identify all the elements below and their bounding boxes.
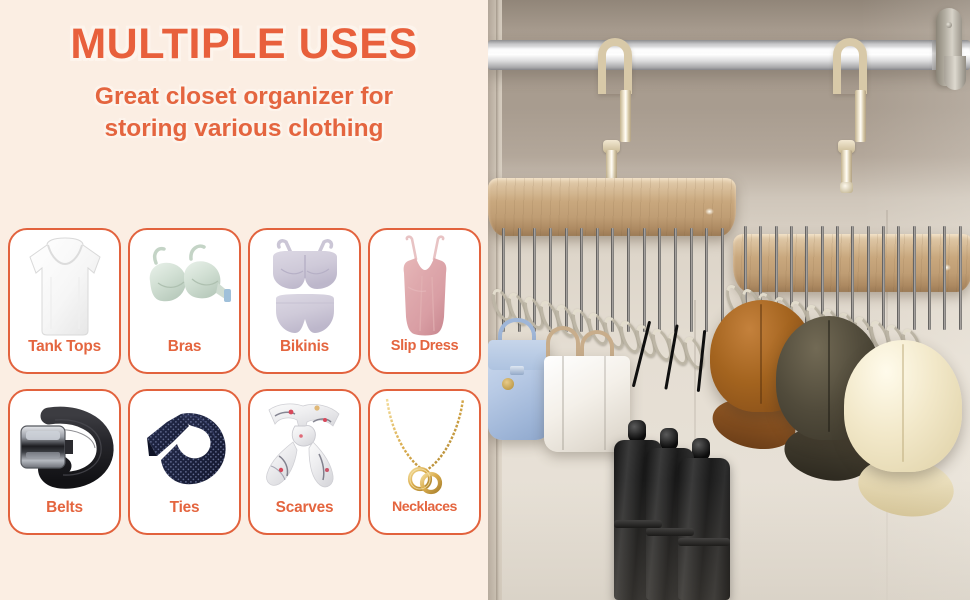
bra-icon xyxy=(130,230,239,340)
product-photo xyxy=(488,0,970,600)
vertical-rod xyxy=(867,226,870,330)
closet-rod xyxy=(488,40,970,70)
brown-cap-seam xyxy=(760,304,762,404)
vertical-rod xyxy=(643,228,646,332)
left-info-panel: MULTIPLE USES Great closet organizer for… xyxy=(0,0,488,600)
tie-icon xyxy=(130,391,239,501)
floor-shadow xyxy=(488,480,970,600)
category-label: Bikinis xyxy=(250,339,359,354)
page-subtitle-line-2: storing various clothing xyxy=(0,113,488,144)
category-label: Tank Tops xyxy=(10,339,119,354)
vertical-rod xyxy=(658,228,661,332)
tank-top-icon xyxy=(10,230,119,340)
hanger-2-stem-lower xyxy=(841,150,852,186)
category-card-scarves[interactable]: Scarves xyxy=(248,389,361,535)
category-card-bras[interactable]: Bras xyxy=(128,228,241,374)
headline-block: MULTIPLE USES Great closet organizer for… xyxy=(0,22,488,144)
category-card-bikinis[interactable]: Bikinis xyxy=(248,228,361,374)
wood-highlight xyxy=(705,208,714,215)
white-handbag-seam-2 xyxy=(604,356,606,450)
hanger-1-stem-upper xyxy=(620,90,631,142)
vertical-rod xyxy=(882,226,885,330)
category-label: Necklaces xyxy=(370,500,479,514)
bracket-screw xyxy=(946,22,952,28)
white-handbag xyxy=(544,356,630,452)
page-subtitle: Great closet organizer for storing vario… xyxy=(0,81,488,144)
product-infographic: MULTIPLE USES Great closet organizer for… xyxy=(0,0,970,600)
belt-icon xyxy=(10,391,119,501)
category-label: Belts xyxy=(10,500,119,515)
vertical-rod xyxy=(690,228,693,332)
vertical-rod xyxy=(943,226,946,330)
vertical-rod xyxy=(705,228,708,332)
umbrella-handle-1 xyxy=(628,420,646,442)
umbrella-handle-2 xyxy=(660,428,678,450)
category-card-grid: Tank Tops xyxy=(8,228,482,535)
hanger-1-hook xyxy=(598,38,632,94)
hanger-2-knob xyxy=(840,182,853,193)
hanger-2-stem-upper xyxy=(855,90,866,142)
vertical-rod xyxy=(959,226,962,330)
bracket-arm xyxy=(944,56,966,90)
slip-dress-icon xyxy=(370,230,479,340)
category-card-ties[interactable]: Ties xyxy=(128,389,241,535)
blue-handbag-clasp xyxy=(510,366,524,375)
necklace-icon xyxy=(370,391,479,501)
category-card-necklaces[interactable]: Necklaces xyxy=(368,389,481,535)
page-subtitle-line-1: Great closet organizer for xyxy=(0,81,488,112)
vertical-rod xyxy=(851,226,854,330)
cream-cap-seam xyxy=(902,344,904,462)
category-card-belts[interactable]: Belts xyxy=(8,389,121,535)
category-label: Bras xyxy=(130,339,239,354)
category-card-tank-tops[interactable]: Tank Tops xyxy=(8,228,121,374)
vertical-rod xyxy=(611,228,614,332)
category-label: Scarves xyxy=(250,500,359,515)
category-label: Ties xyxy=(130,500,239,515)
closet-rod-highlight xyxy=(488,48,970,53)
scarf-icon xyxy=(250,391,359,501)
olive-cap-seam xyxy=(828,320,830,432)
category-card-slip-dress[interactable]: Slip Dress xyxy=(368,228,481,374)
vertical-rod xyxy=(928,226,931,330)
vertical-rod xyxy=(897,226,900,330)
hanger-2-hook xyxy=(833,38,867,94)
white-handbag-seam-1 xyxy=(562,356,564,450)
vertical-rod xyxy=(674,228,677,332)
vertical-rod xyxy=(913,226,916,330)
vertical-rod xyxy=(627,228,630,332)
umbrella-handle-3 xyxy=(692,438,710,460)
bikini-icon xyxy=(250,230,359,340)
blue-handbag-charm xyxy=(502,378,514,390)
page-title: MULTIPLE USES xyxy=(0,22,488,67)
